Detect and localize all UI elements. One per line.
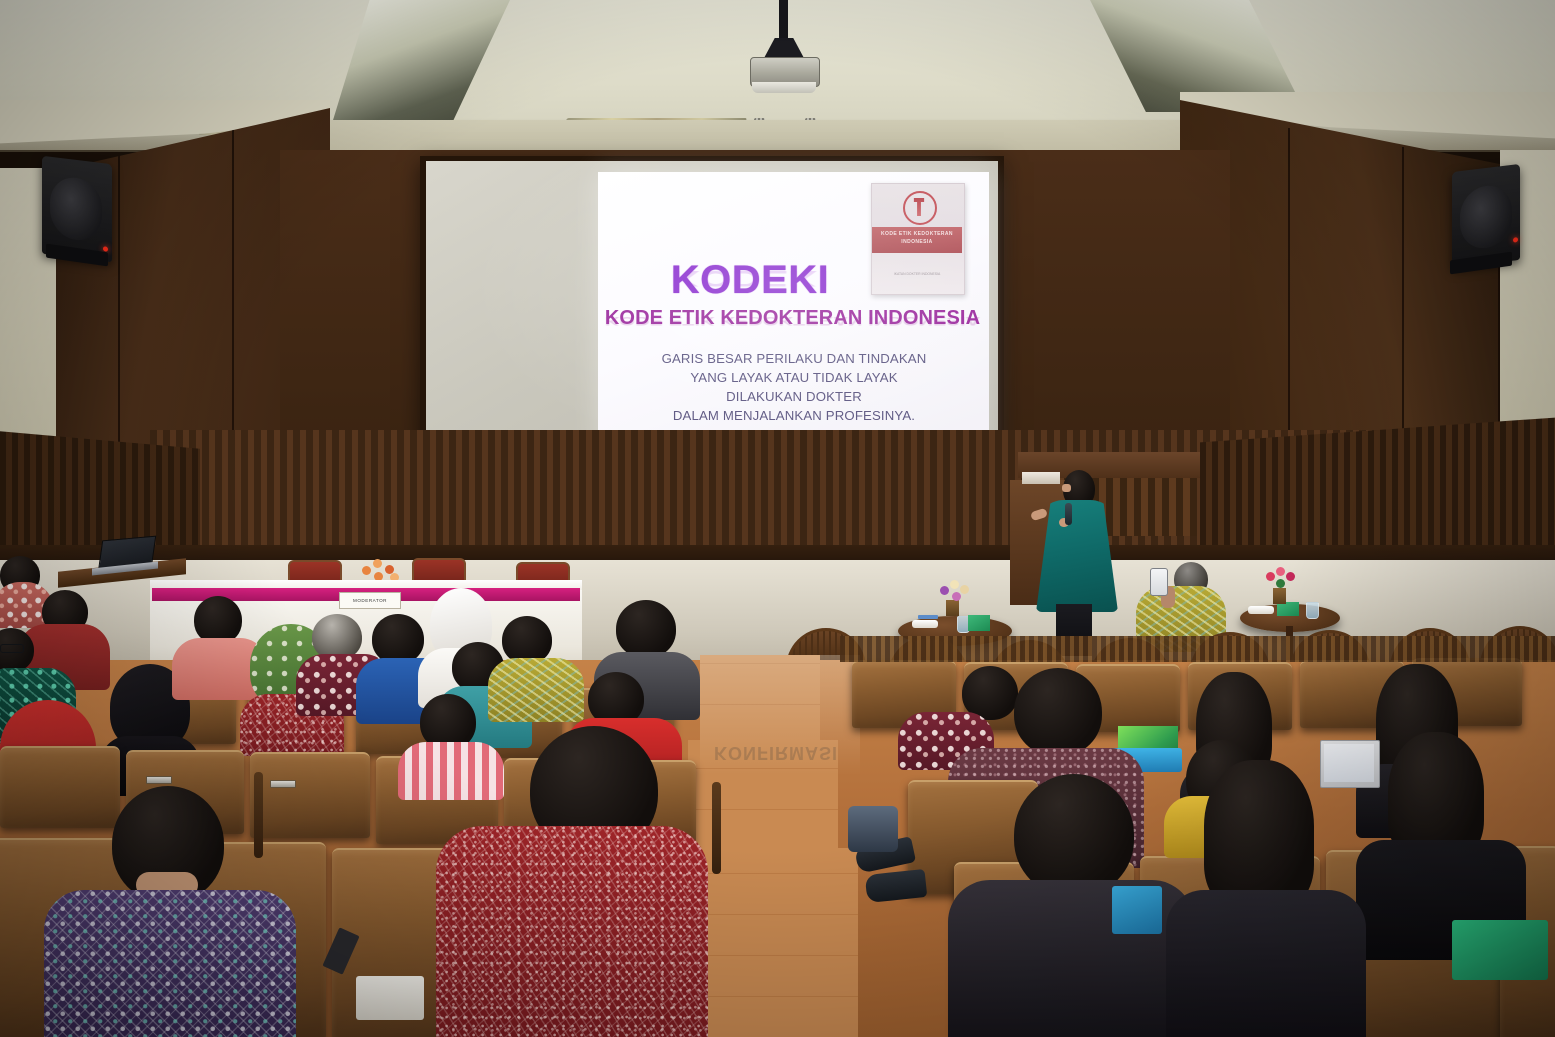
trouser-leg — [848, 806, 898, 852]
notebook — [356, 976, 424, 1020]
table-napkin-right — [1248, 606, 1274, 614]
seat-number-plate — [270, 780, 296, 788]
projector-mount-pole — [779, 0, 788, 42]
handheld-microphone — [1065, 503, 1072, 525]
eyeglasses-icon — [0, 644, 24, 653]
rear-railing — [840, 636, 1555, 662]
seat-row2-3 — [250, 752, 370, 838]
flower-arrangement-left — [938, 578, 974, 604]
audience-laptop-screen — [1324, 744, 1374, 782]
seat-armrest-2 — [712, 782, 721, 874]
snack-box-right — [1277, 602, 1299, 616]
green-bag — [1452, 920, 1548, 980]
speaker-cone-right — [1460, 183, 1512, 251]
red-batik-shirt — [436, 826, 708, 1037]
table-napkin-left — [912, 620, 938, 628]
purple-batik-shirt — [44, 890, 296, 1037]
podium-papers — [1022, 472, 1060, 484]
presenter-face — [1062, 484, 1071, 492]
flower-arrangement-right — [1264, 566, 1300, 592]
floor-reflection-text: KONFIRMASI — [714, 742, 838, 763]
moderator-placard: MODERATOR — [339, 592, 401, 609]
smartphone — [1150, 568, 1168, 596]
seat-armrest-1 — [254, 772, 263, 858]
speaker-cone-left — [50, 175, 102, 243]
moderator-placard-label: MODERATOR — [340, 593, 400, 608]
auditorium-scene: KODE ETIK KEDOKTERAN INDONESIA IKATAN DO… — [0, 0, 1555, 1037]
water-glass-right — [1306, 602, 1319, 619]
blue-bag-2 — [1112, 886, 1162, 934]
seat-row2-1 — [0, 746, 120, 828]
snack-box-left — [968, 615, 990, 631]
speaker-led-right — [1513, 237, 1518, 243]
seat-number-plate — [146, 776, 172, 784]
projector-lens — [752, 82, 816, 93]
table-booklet-left — [918, 615, 938, 619]
